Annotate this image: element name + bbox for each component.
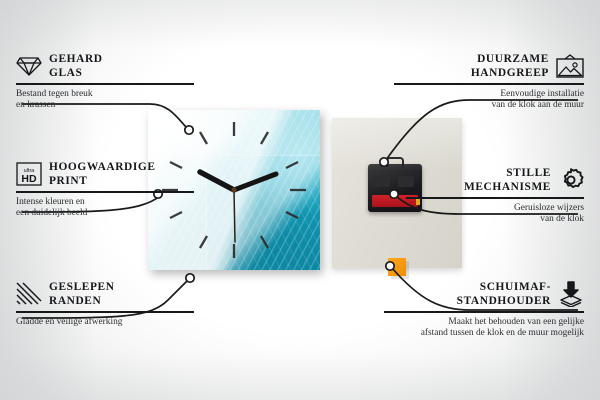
feature-stille-mechanisme: STILLE MECHANISME Geruisloze wijzers van… bbox=[406, 166, 584, 226]
feature-description: Intense kleuren en een duidelijk beeld bbox=[16, 197, 194, 220]
feature-header: ultra HD HOOGWAARDIGE PRINT bbox=[16, 160, 194, 188]
feature-title-line2: GLAS bbox=[49, 66, 103, 80]
feature-header: SCHUIMAF- STANDHOUDER bbox=[384, 280, 584, 308]
foam-spacer-pad bbox=[388, 258, 406, 276]
diagonal-hatch-icon bbox=[16, 282, 42, 306]
feature-desc-line1: Geruisloze wijzers bbox=[406, 203, 584, 215]
promo-canvas: GEHARD GLAS Bestand tegen breuk en krass… bbox=[0, 0, 600, 400]
feature-desc-line2: en krassen bbox=[16, 100, 194, 112]
feature-title-line2: HANDGREEP bbox=[471, 66, 549, 80]
feature-header: GEHARD GLAS bbox=[16, 52, 194, 80]
feature-divider bbox=[384, 311, 584, 313]
feature-schuimaf-standhouder: SCHUIMAF- STANDHOUDER Maakt het behouden… bbox=[384, 280, 584, 340]
feature-header: GESLEPEN RANDEN bbox=[16, 280, 194, 308]
feature-title-line1: SCHUIMAF- bbox=[457, 280, 551, 294]
ultra-hd-icon: ultra HD bbox=[16, 162, 42, 186]
feature-title-line1: STILLE bbox=[464, 166, 551, 180]
picture-frame-icon bbox=[556, 54, 584, 78]
feature-desc-line1: Maakt het behouden van een gelijke bbox=[384, 317, 584, 329]
feature-title: GEHARD GLAS bbox=[49, 52, 103, 80]
ultra-hd-icon-bottom-label: HD bbox=[21, 173, 37, 185]
feature-desc-line2: van de klok aan de muur bbox=[394, 100, 584, 112]
feature-header: STILLE MECHANISME bbox=[406, 166, 584, 194]
feature-title: HOOGWAARDIGE PRINT bbox=[49, 160, 156, 188]
feature-title-line2: MECHANISME bbox=[464, 180, 551, 194]
feature-divider bbox=[394, 83, 584, 85]
feature-title-line2: PRINT bbox=[49, 174, 156, 188]
feature-title: DUURZAME HANDGREEP bbox=[471, 52, 549, 80]
feature-title-line2: STANDHOUDER bbox=[457, 294, 551, 308]
feature-title-line1: DUURZAME bbox=[471, 52, 549, 66]
feature-hoogwaardige-print: ultra HD HOOGWAARDIGE PRINT Intense kleu… bbox=[16, 160, 194, 220]
feature-desc-line1: Eenvoudige installatie bbox=[394, 89, 584, 101]
feature-desc-line2: een duidelijk beeld bbox=[16, 208, 194, 220]
feature-divider bbox=[16, 83, 194, 85]
diamond-icon bbox=[16, 55, 42, 77]
mechanism-hanger-icon bbox=[386, 157, 404, 167]
feature-description: Maakt het behouden van een gelijke afsta… bbox=[384, 317, 584, 340]
feature-divider bbox=[16, 191, 194, 193]
feature-desc-line2: afstand tussen de klok en de muur mogeli… bbox=[384, 328, 584, 340]
feature-description: Gladde en veilige afwerking bbox=[16, 317, 194, 329]
feature-description: Geruisloze wijzers van de klok bbox=[406, 203, 584, 226]
feature-title-line1: GEHARD bbox=[49, 52, 103, 66]
feature-desc-line1: Gladde en veilige afwerking bbox=[16, 317, 194, 329]
gear-icon bbox=[558, 167, 584, 193]
feature-divider bbox=[406, 197, 584, 199]
feature-description: Bestand tegen breuk en krassen bbox=[16, 89, 194, 112]
feature-title-line1: GESLEPEN bbox=[49, 280, 115, 294]
feature-geslepen-randen: GESLEPEN RANDEN Gladde en veilige afwerk… bbox=[16, 280, 194, 328]
feature-gehard-glas: GEHARD GLAS Bestand tegen breuk en krass… bbox=[16, 52, 194, 112]
feature-header: DUURZAME HANDGREEP bbox=[394, 52, 584, 80]
mechanism-slot-left bbox=[374, 176, 390, 187]
feature-title-line1: HOOGWAARDIGE bbox=[49, 160, 156, 174]
feature-divider bbox=[16, 311, 194, 313]
feature-title: GESLEPEN RANDEN bbox=[49, 280, 115, 308]
feature-duurzame-handgreep: DUURZAME HANDGREEP Eenvoudige installati… bbox=[394, 52, 584, 112]
feature-title-line2: RANDEN bbox=[49, 294, 115, 308]
feature-title: STILLE MECHANISME bbox=[464, 166, 551, 194]
feature-desc-line1: Bestand tegen breuk bbox=[16, 89, 194, 101]
feature-desc-line1: Intense kleuren en bbox=[16, 197, 194, 209]
feature-desc-line2: van de klok bbox=[406, 214, 584, 226]
feature-title: SCHUIMAF- STANDHOUDER bbox=[457, 280, 551, 308]
down-arrow-pad-icon bbox=[558, 281, 584, 307]
feature-description: Eenvoudige installatie van de klok aan d… bbox=[394, 89, 584, 112]
